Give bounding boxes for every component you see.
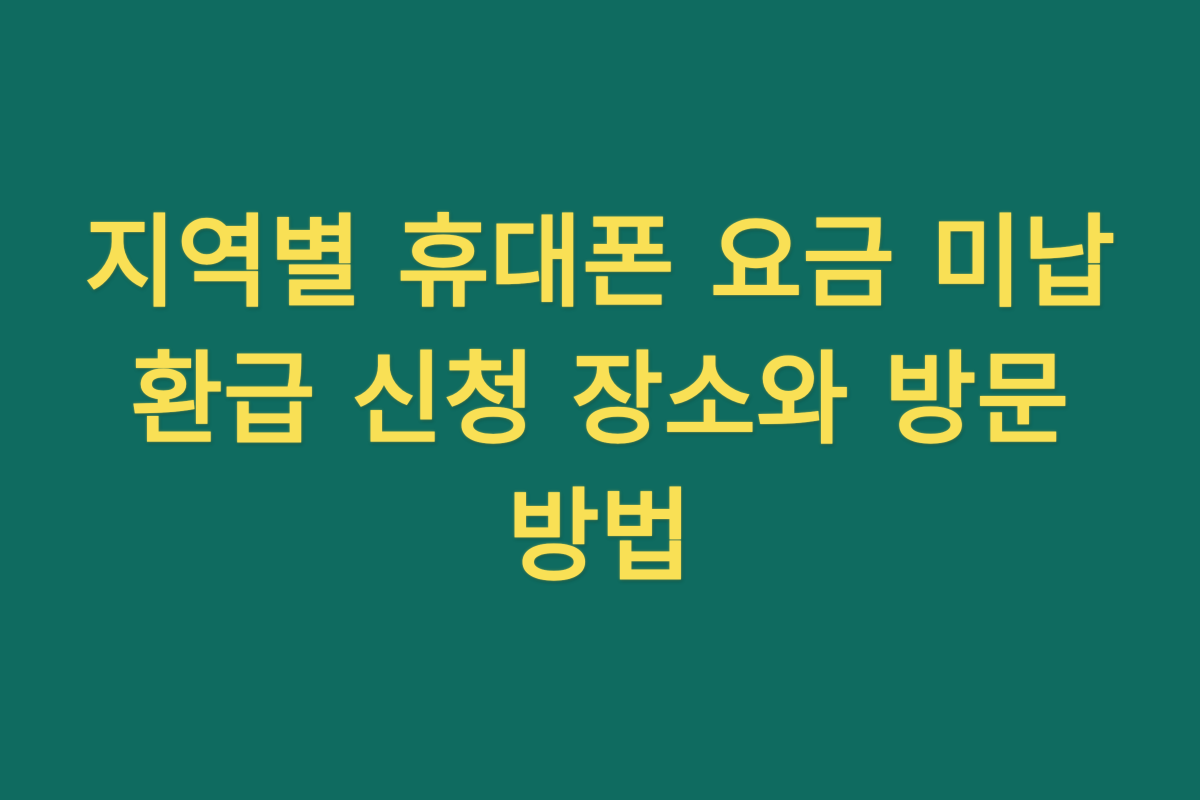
page-title: 지역별 휴대폰 요금 미납 환급 신청 장소와 방문 방법 [40,194,1160,605]
title-line-1: 지역별 휴대폰 요금 미납 [40,194,1160,331]
title-card-canvas: 지역별 휴대폰 요금 미납 환급 신청 장소와 방문 방법 [0,0,1200,800]
title-line-2: 환급 신청 장소와 방문 [40,331,1160,468]
title-line-3: 방법 [40,468,1160,605]
